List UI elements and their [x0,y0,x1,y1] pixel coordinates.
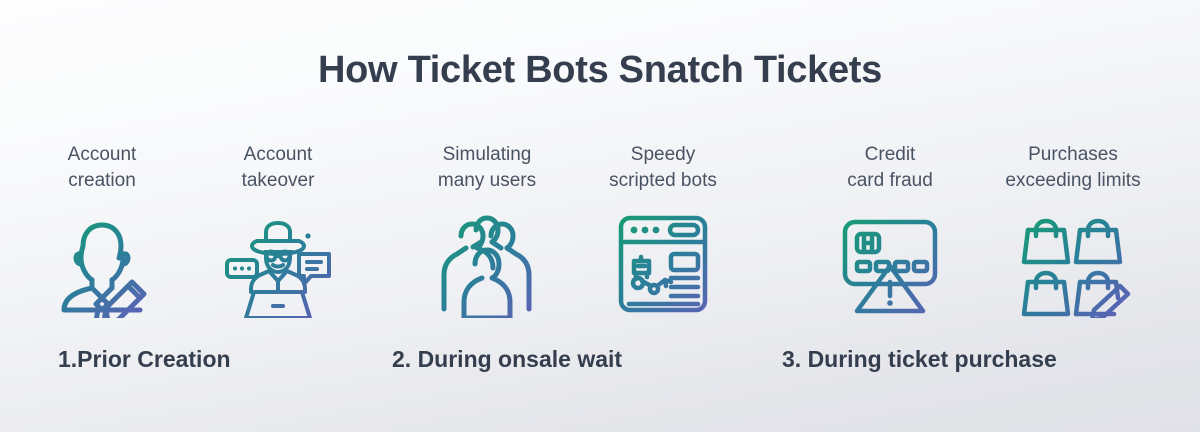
group-2-cards: Simulating many users [380,142,770,320]
group-during-ticket-purchase: Credit card fraud [770,142,1200,373]
user-with-pen-icon [43,208,161,320]
group-3-cards: Credit card fraud [770,142,1200,320]
infographic-root: How Ticket Bots Snatch Tickets Account c… [0,0,1200,432]
card-label: Simulating many users [438,142,536,196]
card-label: Purchases exceeding limits [1005,142,1140,196]
card-account-creation: Account creation [14,142,190,320]
browser-bot-icon [604,208,722,320]
card-simulating-many-users: Simulating many users [399,142,575,320]
group-1-cards: Account creation [0,142,380,320]
credit-card-warning-icon [831,208,949,320]
group-caption: 3. During ticket purchase [782,346,1057,373]
group-prior-creation: Account creation [0,142,380,373]
groups-row: Account creation [0,142,1200,392]
card-label: Credit card fraud [847,142,933,196]
group-caption: 1.Prior Creation [58,346,231,373]
group-caption: 2. During onsale wait [392,346,622,373]
card-label: Account creation [68,142,137,196]
group-during-onsale-wait: Simulating many users [380,142,770,373]
card-label: Speedy scripted bots [609,142,717,196]
card-purchases-exceeding-limits: Purchases exceeding limits [978,142,1168,320]
shopping-bags-icon [1014,208,1132,320]
card-label: Account takeover [242,142,315,196]
hacker-at-laptop-icon [219,208,337,320]
card-account-takeover: Account takeover [190,142,366,320]
group-of-users-icon [428,208,546,320]
card-speedy-scripted-bots: Speedy scripted bots [575,142,751,320]
page-title: How Ticket Bots Snatch Tickets [0,47,1200,93]
card-credit-card-fraud: Credit card fraud [802,142,978,320]
